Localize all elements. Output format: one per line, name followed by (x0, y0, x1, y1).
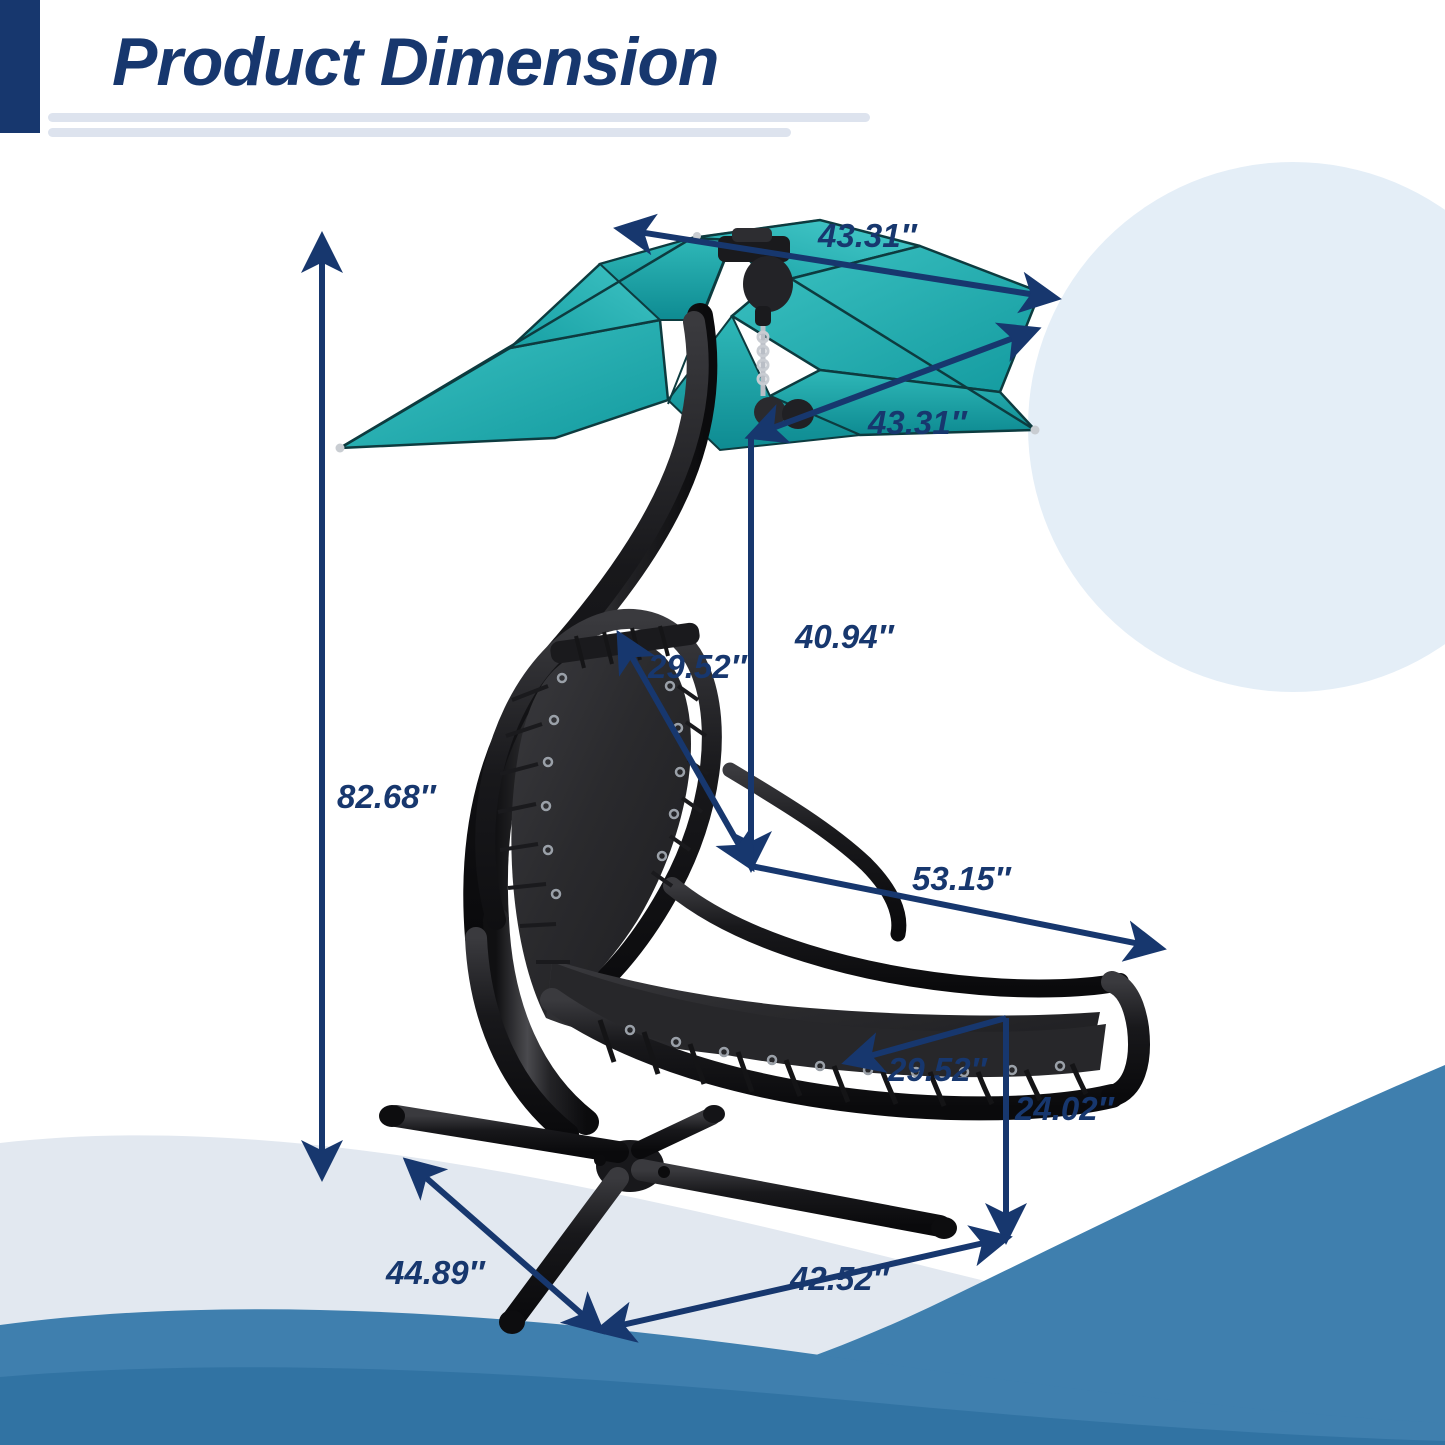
dimension-label-seat-length: 53.15″ (912, 862, 1010, 895)
dimension-label-base-depth: 44.89″ (386, 1256, 484, 1289)
dimension-label-seat-height: 40.94″ (795, 620, 893, 653)
dimension-label-overall-height: 82.68″ (337, 780, 435, 813)
dimension-label-seat-width: 29.52″ (888, 1053, 986, 1086)
dimension-label-base-width: 42.52″ (790, 1262, 888, 1295)
dimension-label-canopy-depth: 43.31″ (868, 406, 966, 439)
dimension-label-seat-back-depth: 29.52″ (648, 650, 746, 683)
dimension-arrow-base-depth (408, 1162, 600, 1330)
dimension-label-canopy-width: 43.31″ (818, 219, 916, 252)
product-dimension-page: Product Dimension (0, 0, 1445, 1445)
dimension-label-seat-clearance: 24.02″ (1015, 1092, 1113, 1125)
dimension-overlay (0, 0, 1445, 1445)
